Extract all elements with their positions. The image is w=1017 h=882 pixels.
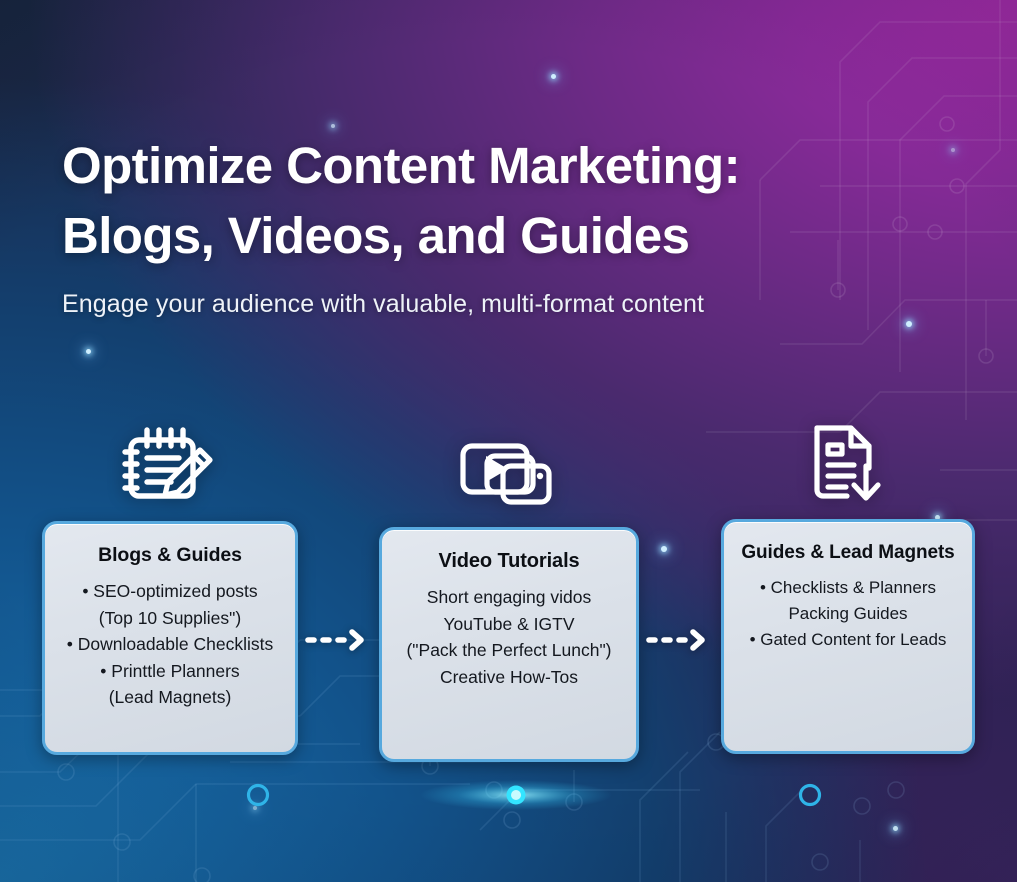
card-body: Short engaging vidos YouTube & IGTV ("Pa… <box>392 584 626 690</box>
card-body: • Checklists & Planners Packing Guides •… <box>734 575 962 652</box>
content-columns: Blogs & Guides • SEO-optimized posts (To… <box>0 0 1017 882</box>
card-blogs-guides[interactable]: Blogs & Guides • SEO-optimized posts (To… <box>42 521 298 755</box>
card-line: • SEO-optimized posts <box>55 578 285 605</box>
card-line: • Gated Content for Leads <box>734 627 962 653</box>
card-line: ("Pack the Perfect Lunch") <box>392 637 626 664</box>
dashed-arrow-2 <box>646 627 708 653</box>
card-line: (Lead Magnets) <box>55 684 285 711</box>
document-download-icon <box>721 402 975 506</box>
progress-timeline[interactable] <box>240 779 828 811</box>
card-line: • Checklists & Planners <box>734 575 962 601</box>
column-blogs-guides: Blogs & Guides • SEO-optimized posts (To… <box>42 404 298 755</box>
card-line: Creative How-Tos <box>392 664 626 691</box>
card-line: • Printtle Planners <box>55 658 285 685</box>
card-line: Short engaging vidos <box>392 584 626 611</box>
notepad-pencil-icon <box>42 404 298 508</box>
column-video-tutorials: Video Tutorials Short engaging vidos You… <box>379 410 639 762</box>
column-guides-lead-magnets: Guides & Lead Magnets • Checklists & Pla… <box>721 402 975 754</box>
dashed-arrow-1 <box>305 627 367 653</box>
card-title: Guides & Lead Magnets <box>734 542 962 564</box>
card-title: Video Tutorials <box>392 550 626 573</box>
card-title: Blogs & Guides <box>55 544 285 567</box>
infographic-canvas: Optimize Content Marketing: Blogs, Video… <box>0 0 1017 882</box>
video-play-icon <box>379 410 639 514</box>
card-line: (Top 10 Supplies") <box>55 605 285 632</box>
card-line: Packing Guides <box>734 601 962 627</box>
card-video-tutorials[interactable]: Video Tutorials Short engaging vidos You… <box>379 527 639 762</box>
card-line: YouTube & IGTV <box>392 611 626 638</box>
card-line: • Downloadable Checklists <box>55 631 285 658</box>
card-body: • SEO-optimized posts (Top 10 Supplies")… <box>55 578 285 711</box>
card-guides-lead-magnets[interactable]: Guides & Lead Magnets • Checklists & Pla… <box>721 519 975 754</box>
